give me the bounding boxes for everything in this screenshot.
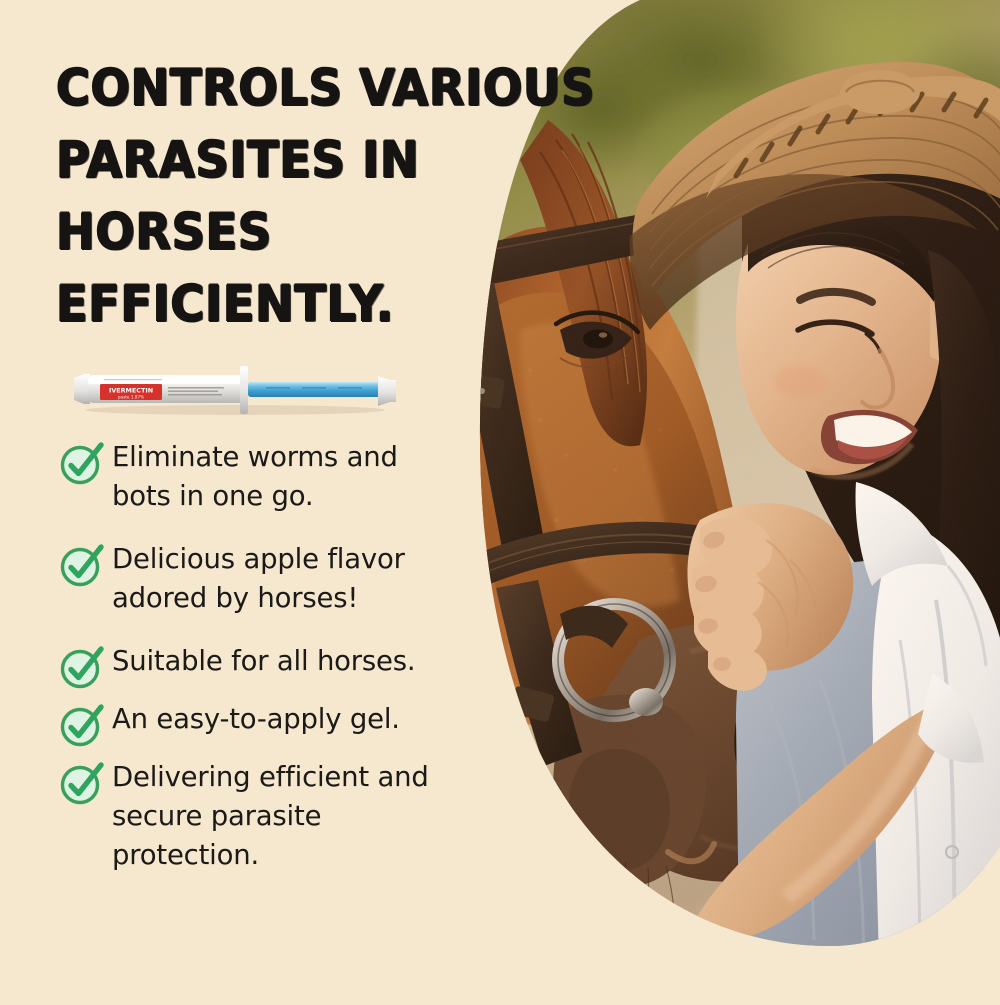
benefits-list: Eliminate worms and bots in one go. Deli… xyxy=(58,438,488,891)
list-item: Delicious apple flavor adored by horses! xyxy=(58,540,488,618)
list-item-label: Delicious apple flavor adored by horses! xyxy=(112,540,464,618)
promo-card: CONTROLS VARIOUS PARASITES IN HORSES EFF… xyxy=(0,0,1000,1000)
check-circle-icon xyxy=(58,760,104,806)
list-item-label: Delivering efficient and secure parasite… xyxy=(112,758,464,875)
check-circle-icon xyxy=(58,644,104,690)
syringe-image: IVERMECTIN paste 1.87% xyxy=(70,360,400,420)
check-circle-icon xyxy=(58,542,104,588)
list-item-label: Eliminate worms and bots in one go. xyxy=(112,438,464,516)
list-item-label: Suitable for all horses. xyxy=(112,642,415,681)
syringe-label-subtext: paste 1.87% xyxy=(118,394,144,399)
syringe-label-text: IVERMECTIN xyxy=(109,386,153,394)
list-item: Delivering efficient and secure parasite… xyxy=(58,758,488,875)
check-circle-icon xyxy=(58,702,104,748)
list-item: Suitable for all horses. xyxy=(58,642,488,690)
list-item: Eliminate worms and bots in one go. xyxy=(58,438,488,516)
list-item-label: An easy-to-apply gel. xyxy=(112,700,400,739)
list-item: An easy-to-apply gel. xyxy=(58,700,488,748)
check-circle-icon xyxy=(58,440,104,486)
